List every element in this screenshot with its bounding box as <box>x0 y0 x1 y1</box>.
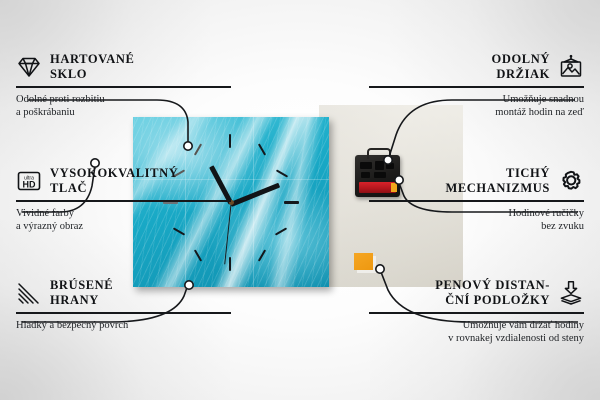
feature-title-line1: PENOVÝ DISTAN- <box>369 278 550 293</box>
wall-hanger-icon <box>558 54 584 80</box>
feature-wall-hanger[interactable]: ODOLNÝ DRŽIAK Umožňuje snadnou montáž ho… <box>369 52 584 119</box>
ultra-hd-badge-icon: ultra HD <box>16 168 42 194</box>
feature-desc-line2: a poškrábaniu <box>16 106 231 119</box>
feature-title-line2: MECHANIZMUS <box>369 181 550 196</box>
feature-divider <box>16 312 231 314</box>
gear-icon <box>558 168 584 194</box>
feature-divider <box>369 312 584 314</box>
feature-divider <box>16 86 231 88</box>
polished-edges-icon <box>16 280 42 306</box>
feature-header: ODOLNÝ DRŽIAK <box>369 52 584 82</box>
feature-title-line1: VYSOKOKVALITNÝ <box>50 166 178 181</box>
infographic-canvas: HARTOVANÉ SKLO Odolné proti rozbitiu a p… <box>0 0 600 400</box>
feature-desc-line1: Umožňuje vám držať hodiny <box>369 319 584 332</box>
feature-title-line1: TICHÝ <box>369 166 550 181</box>
feature-desc-line2: a výrazný obraz <box>16 220 231 233</box>
feature-title-line2: HRANY <box>50 293 113 308</box>
feature-header: ultra HD VYSOKOKVALITNÝ TLAČ <box>16 166 231 196</box>
feature-divider <box>369 86 584 88</box>
clock-tick <box>229 257 231 271</box>
feature-header: PENOVÝ DISTAN- ČNÍ PODLOŽKY <box>369 278 584 308</box>
feature-desc-line1: Hladký a bezpečný povrch <box>16 319 231 332</box>
feature-title-line1: ODOLNÝ <box>369 52 550 67</box>
feature-tempered-glass[interactable]: HARTOVANÉ SKLO Odolné proti rozbitiu a p… <box>16 52 231 119</box>
feature-title-line1: BRÚSENÉ <box>50 278 113 293</box>
feature-desc-line2: montáž hodin na zeď <box>369 106 584 119</box>
press-down-layers-icon <box>558 280 584 306</box>
feature-desc-line1: Odolné proti rozbitiu <box>16 93 231 106</box>
feature-title-line2: ČNÍ PODLOŽKY <box>369 293 550 308</box>
feature-header: HARTOVANÉ SKLO <box>16 52 231 82</box>
clock-tick <box>284 201 299 204</box>
feature-title-line2: DRŽIAK <box>369 67 550 82</box>
diamond-icon <box>16 54 42 80</box>
feature-header: TICHÝ MECHANIZMUS <box>369 166 584 196</box>
feature-divider <box>369 200 584 202</box>
feature-desc-line1: Vividné farby <box>16 207 231 220</box>
feature-silent-mechanism[interactable]: TICHÝ MECHANIZMUS Hodinové ručičky bez z… <box>369 166 584 233</box>
feature-divider <box>16 200 231 202</box>
ultra-hd-main-text: HD <box>23 179 36 189</box>
clock-tick <box>229 134 231 148</box>
feature-desc-line1: Umožňuje snadnou <box>369 93 584 106</box>
feature-header: BRÚSENÉ HRANY <box>16 278 231 308</box>
feature-title-line1: HARTOVANÉ <box>50 52 134 67</box>
feature-desc-line1: Hodinové ručičky <box>369 207 584 220</box>
feature-title-line2: TLAČ <box>50 181 178 196</box>
feature-foam-spacers[interactable]: PENOVÝ DISTAN- ČNÍ PODLOŽKY Umožňuje vám… <box>369 278 584 345</box>
feature-desc-line2: v rovnakej vzdialenosti od steny <box>369 332 584 345</box>
feature-polished-edges[interactable]: BRÚSENÉ HRANY Hladký a bezpečný povrch <box>16 278 231 332</box>
feature-title-line2: SKLO <box>50 67 134 82</box>
feature-print-quality[interactable]: ultra HD VYSOKOKVALITNÝ TLAČ Vividné far… <box>16 166 231 233</box>
feature-desc-line2: bez zvuku <box>369 220 584 233</box>
mechanism-hanger-loop <box>367 148 391 159</box>
foam-spacer-pad <box>354 253 373 270</box>
